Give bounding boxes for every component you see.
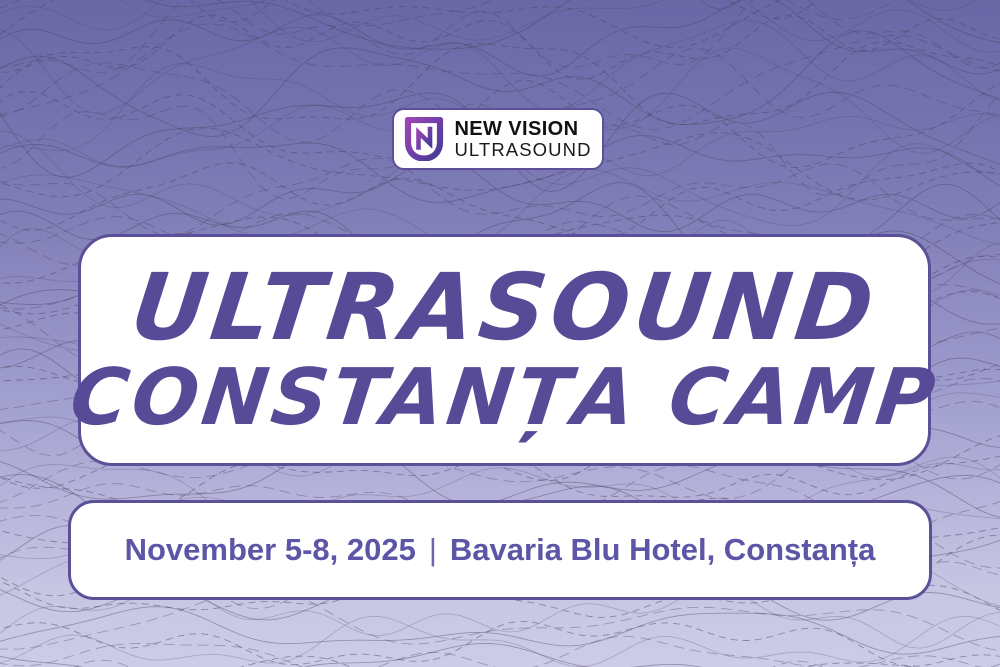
event-title-card: ULTRASOUND CONSTANȚA CAMP xyxy=(78,234,931,466)
brand-name-secondary: ULTRASOUND xyxy=(454,141,591,160)
event-venue: Bavaria Blu Hotel, Constanța xyxy=(450,532,875,568)
event-details-card: November 5-8, 2025 | Bavaria Blu Hotel, … xyxy=(68,500,932,600)
brand-name-primary: NEW VISION xyxy=(454,119,591,139)
details-separator: | xyxy=(429,532,437,568)
brand-wordmark: NEW VISION ULTRASOUND xyxy=(454,119,591,160)
event-title-line-1: ULTRASOUND xyxy=(126,264,882,352)
event-details-row: November 5-8, 2025 | Bavaria Blu Hotel, … xyxy=(125,532,876,568)
event-date: November 5-8, 2025 xyxy=(125,532,416,568)
new-vision-ultrasound-logo-mark xyxy=(404,117,444,161)
event-banner: NEW VISION ULTRASOUND ULTRASOUND CONSTAN… xyxy=(0,0,1000,667)
brand-logo-badge: NEW VISION ULTRASOUND xyxy=(392,108,604,170)
event-title-line-2: CONSTANȚA CAMP xyxy=(66,361,942,436)
